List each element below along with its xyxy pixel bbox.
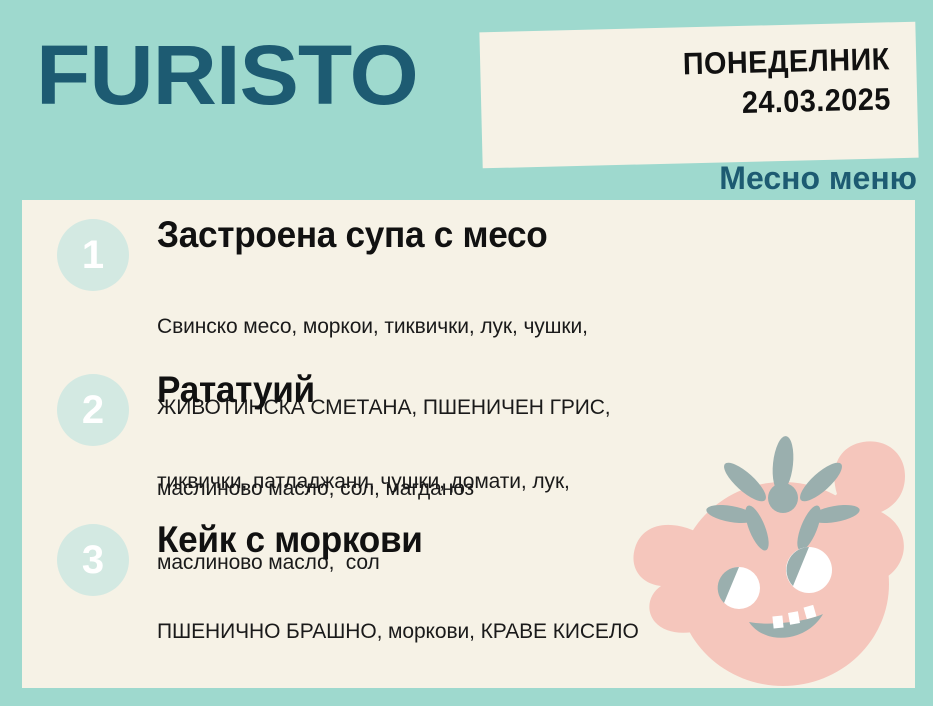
- dish-description: ПШЕНИЧНО БРАШНО, моркови, КРАВЕ КИСЕЛО М…: [157, 564, 915, 688]
- menu-poster: FURISTO ПОНЕДЕЛНИК 24.03.2025 Месно меню: [0, 0, 933, 706]
- menu-item-number-badge: 1: [57, 219, 129, 291]
- bottom-border-strip: [0, 688, 933, 706]
- dish-description-line: Свинско месо, моркои, тиквички, лук, чуш…: [157, 313, 915, 340]
- weekday-label: ПОНЕДЕЛНИК: [683, 39, 891, 84]
- dish-description-line: тиквички, патладжани, чушки, домати, лук…: [157, 468, 915, 495]
- dish-title: Кейк с моркови: [157, 518, 879, 561]
- date-box: ПОНЕДЕЛНИК 24.03.2025: [479, 22, 918, 169]
- poster-header: FURISTO ПОНЕДЕЛНИК 24.03.2025 Месно меню: [0, 0, 933, 200]
- menu-item-number-badge: 2: [57, 374, 129, 446]
- menu-item-body: Кейк с моркови ПШЕНИЧНО БРАШНО, моркови,…: [157, 518, 915, 688]
- dish-title: Рататуий: [157, 368, 879, 411]
- date-label: 24.03.2025: [684, 79, 892, 124]
- dish-title: Застроена супа с месо: [157, 213, 879, 256]
- date-box-content: ПОНЕДЕЛНИК 24.03.2025: [667, 39, 891, 124]
- menu-card: 1 Застроена супа с месо Свинско месо, мо…: [22, 200, 915, 688]
- dish-description-line: ПШЕНИЧНО БРАШНО, моркови, КРАВЕ КИСЕЛО: [157, 618, 915, 645]
- brand-logo: FURISTO: [36, 33, 418, 117]
- menu-item-number-badge: 3: [57, 524, 129, 596]
- menu-kind-label: Месно меню: [719, 160, 917, 196]
